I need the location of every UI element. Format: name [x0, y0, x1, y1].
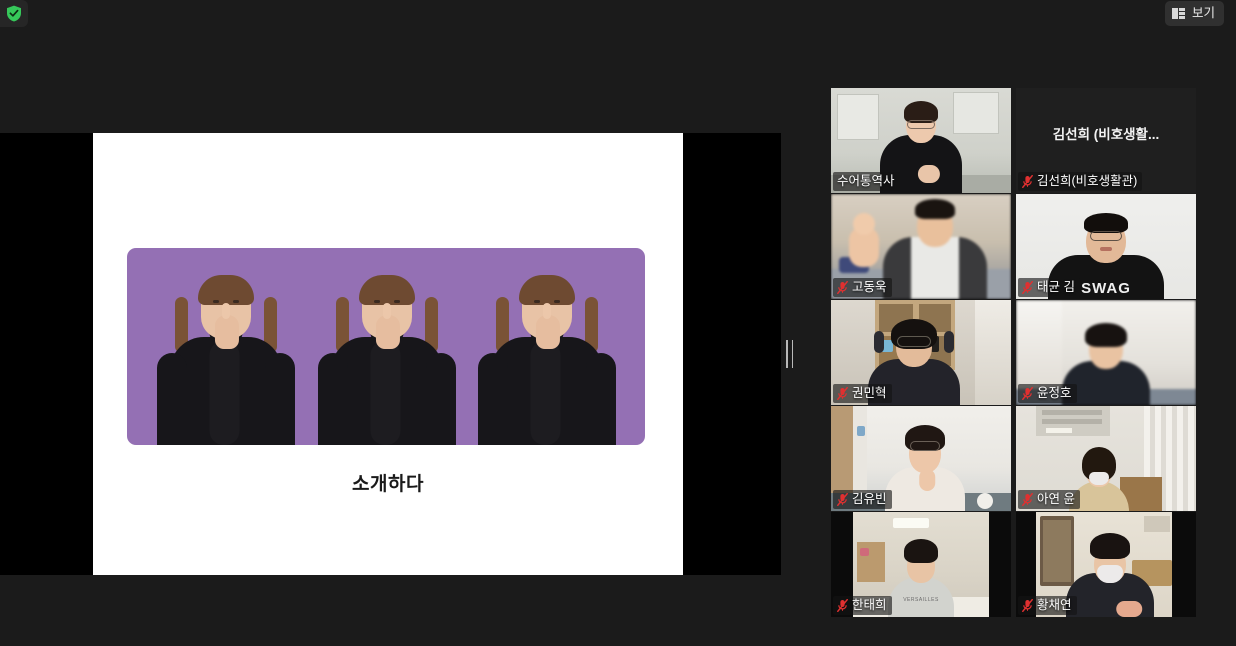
- presentation-slide: 소개하다: [93, 133, 683, 575]
- signer-frame-1: [151, 261, 301, 445]
- resize-handle[interactable]: [781, 133, 831, 575]
- filmstrip-row: 수어통역사 김선희 (비호생활... 김선희(비호생활관): [831, 88, 1196, 193]
- microphone-muted-icon: [1022, 387, 1033, 400]
- microphone-muted-icon: [1022, 493, 1033, 506]
- filmstrip-row: VERSAILLES 한태희: [831, 512, 1196, 617]
- participant-tile-kimsunhee[interactable]: 김선희 (비호생활... 김선희(비호생활관): [1016, 88, 1196, 193]
- meeting-security-badge[interactable]: [0, 0, 28, 27]
- participant-name: 아연 윤: [1037, 493, 1075, 506]
- participant-nameplate: 아연 윤: [1018, 490, 1080, 509]
- participant-nameplate: 수어통역사: [833, 172, 900, 191]
- participant-name: 황채연: [1037, 599, 1072, 612]
- microphone-muted-icon: [1022, 175, 1033, 188]
- participant-name: 윤정호: [1037, 387, 1072, 400]
- view-button[interactable]: 보기: [1165, 1, 1224, 26]
- participant-tile-kwonminhyuk[interactable]: 권민혁: [831, 300, 1011, 405]
- participant-nameplate: 권민혁: [833, 384, 892, 403]
- view-layout-icon: [1172, 8, 1186, 19]
- participant-tile-hantaehee[interactable]: VERSAILLES 한태희: [831, 512, 1011, 617]
- microphone-muted-icon: [837, 599, 848, 612]
- sign-language-illustration: [127, 248, 645, 445]
- participant-name: 권민혁: [852, 387, 887, 400]
- participant-tile-interpreter[interactable]: 수어통역사: [831, 88, 1011, 193]
- microphone-muted-icon: [837, 493, 848, 506]
- microphone-muted-icon: [837, 281, 848, 294]
- signer-frame-2: [312, 261, 462, 445]
- participant-tile-taegyunkim[interactable]: SWAG 태균 김: [1016, 194, 1196, 299]
- participant-name: 수어통역사: [837, 175, 895, 188]
- participant-tile-hwangchaeyeon[interactable]: 황채연: [1016, 512, 1196, 617]
- participant-nameplate: 김선희(비호생활관): [1018, 172, 1142, 191]
- participant-tile-ayeonyoon[interactable]: 아연 윤: [1016, 406, 1196, 511]
- participant-tile-kimyubin[interactable]: 김유빈: [831, 406, 1011, 511]
- slide-caption: 소개하다: [93, 469, 683, 496]
- microphone-muted-icon: [1022, 281, 1033, 294]
- filmstrip-row: 권민혁: [831, 300, 1196, 405]
- participant-nameplate: 한태희: [833, 596, 892, 615]
- participant-name: 태균 김: [1037, 281, 1075, 294]
- participant-tile-yoonjeongho[interactable]: 윤정호: [1016, 300, 1196, 405]
- participant-name: 김선희(비호생활관): [1037, 175, 1137, 188]
- resize-grip-icon: [786, 340, 793, 368]
- participant-nameplate: 태균 김: [1018, 278, 1080, 297]
- participant-name: 김유빈: [852, 493, 887, 506]
- participant-nameplate: 고동욱: [833, 278, 892, 297]
- shield-check-icon: [6, 5, 22, 22]
- participant-nameplate: 황채연: [1018, 596, 1077, 615]
- microphone-muted-icon: [837, 387, 848, 400]
- participant-tile-godongwook[interactable]: 고동욱: [831, 194, 1011, 299]
- view-button-label: 보기: [1192, 7, 1215, 20]
- signer-frame-3: [472, 261, 622, 445]
- microphone-muted-icon: [1022, 599, 1033, 612]
- filmstrip-row: 고동욱 SWAG: [831, 194, 1196, 299]
- participant-filmstrip[interactable]: 수어통역사 김선희 (비호생활... 김선희(비호생활관): [831, 88, 1196, 616]
- participant-nameplate: 김유빈: [833, 490, 892, 509]
- filmstrip-row: 김유빈: [831, 406, 1196, 511]
- participant-name: 한태희: [852, 599, 887, 612]
- participant-name: 고동욱: [852, 281, 887, 294]
- top-bar: 보기: [0, 0, 1236, 27]
- shared-screen-stage[interactable]: 소개하다: [0, 133, 781, 575]
- participant-nameplate: 윤정호: [1018, 384, 1077, 403]
